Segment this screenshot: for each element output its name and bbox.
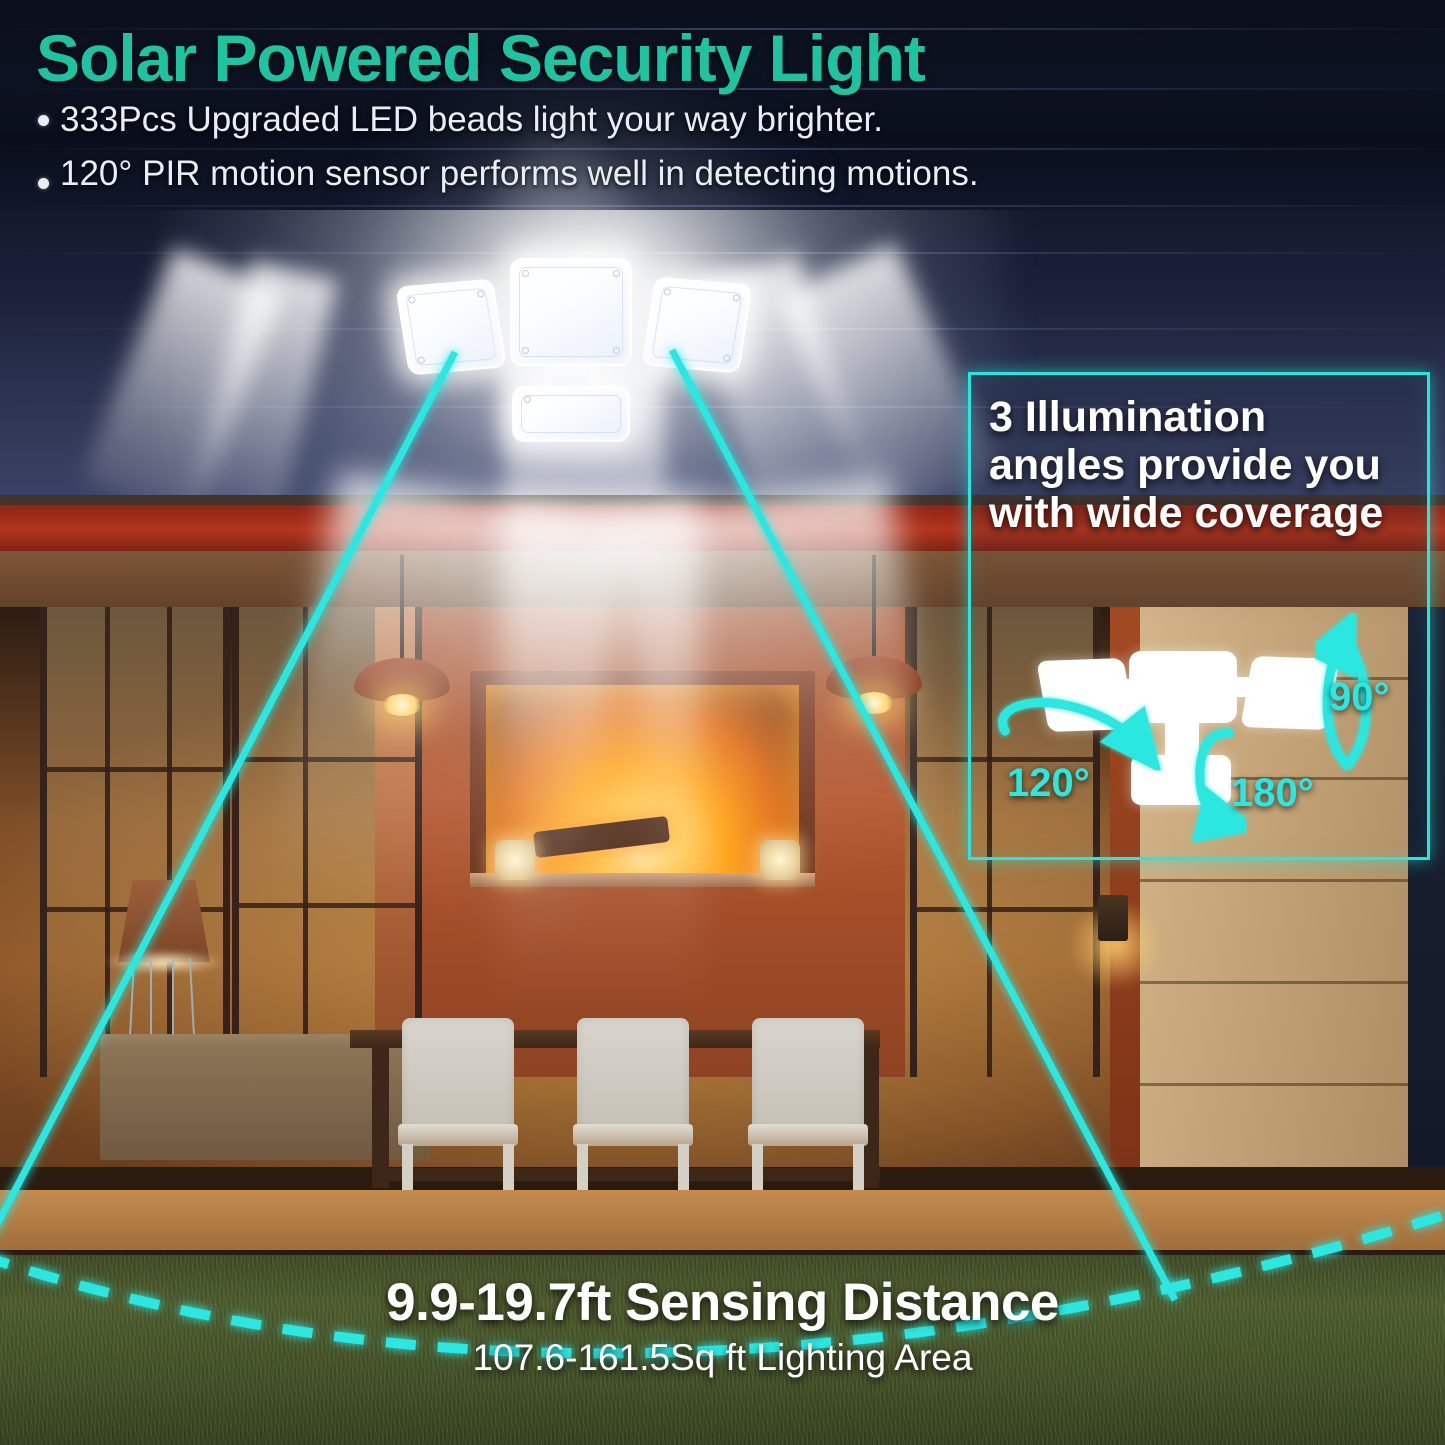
- chair: [748, 1018, 868, 1218]
- sensing-distance-label: 9.9-19.7ft Sensing Distance: [0, 1272, 1445, 1333]
- siding-seam: [0, 252, 1445, 254]
- light-ray: [191, 259, 339, 495]
- center-head: [510, 258, 632, 366]
- pendant-cord: [400, 555, 404, 665]
- table-lantern: [760, 840, 800, 880]
- screw-icon: [613, 270, 620, 277]
- lighting-area-label: 107.6-161.5Sq ft Lighting Area: [0, 1337, 1445, 1379]
- chair-seat: [748, 1124, 868, 1146]
- bullet-label: 120° PIR motion sensor performs well in …: [60, 154, 979, 194]
- screw-icon: [522, 347, 529, 354]
- mullion: [303, 607, 308, 1077]
- left-head: [395, 278, 507, 375]
- list-item: 120° PIR motion sensor performs well in …: [38, 154, 979, 194]
- header-banner: Solar Powered Security Light 333Pcs Upgr…: [0, 0, 1445, 210]
- table-leg: [372, 1048, 389, 1188]
- angle-label-180: 180°: [1231, 771, 1314, 816]
- chair-back: [402, 1018, 514, 1130]
- light-ray: [776, 243, 999, 495]
- floor-lamp-glow: [104, 950, 224, 974]
- screw-icon: [522, 270, 529, 277]
- bottom-head: [512, 386, 630, 442]
- chair-seat: [398, 1124, 518, 1146]
- chair-seat: [573, 1124, 693, 1146]
- chair-back: [577, 1018, 689, 1130]
- window-bay: [40, 607, 230, 1077]
- siding-seam: [1140, 879, 1445, 882]
- page-title: Solar Powered Security Light: [36, 20, 925, 96]
- bullet-label: 333Pcs Upgraded LED beads light your way…: [60, 100, 883, 140]
- wall-sconce: [1098, 895, 1128, 941]
- window-sill: [47, 767, 223, 772]
- right-head: [641, 276, 753, 373]
- window-sill: [239, 757, 415, 762]
- porch-deck: [0, 1190, 1445, 1250]
- window-sill: [917, 907, 1093, 912]
- table-lantern: [495, 840, 535, 880]
- arrow-180: [1200, 733, 1229, 821]
- list-item: 333Pcs Upgraded LED beads light your way…: [38, 100, 979, 140]
- siding-seam: [1140, 981, 1445, 984]
- rotation-diagram: 120° 180° 90°: [981, 613, 1421, 853]
- pendant-cord: [872, 555, 876, 663]
- screw-icon: [613, 347, 620, 354]
- light-ray: [81, 248, 286, 495]
- bullet-dot-icon: [38, 115, 49, 126]
- chair: [398, 1018, 518, 1218]
- lens-frame: [651, 286, 742, 364]
- illumination-angles-callout: 3 Illumination angles provide you with w…: [968, 372, 1430, 860]
- screw-icon: [524, 396, 531, 403]
- angle-label-120: 120°: [1007, 761, 1090, 806]
- window-sill: [239, 903, 415, 908]
- mullion: [105, 607, 110, 1077]
- siding-seam: [1140, 1083, 1445, 1086]
- fire-logs: [533, 816, 670, 858]
- callout-heading: 3 Illumination angles provide you with w…: [989, 393, 1409, 537]
- chair-back: [752, 1018, 864, 1130]
- pendant-bulb: [854, 692, 894, 714]
- chair: [573, 1018, 693, 1218]
- feature-bullet-list: 333Pcs Upgraded LED beads light your way…: [38, 100, 979, 208]
- arrow-120: [1003, 703, 1139, 745]
- rotation-arrows: [981, 613, 1421, 853]
- lens-frame: [521, 395, 621, 433]
- lens-frame: [405, 288, 496, 366]
- product-marketing-image: Solar Powered Security Light 333Pcs Upgr…: [0, 0, 1445, 1445]
- pendant-bulb: [382, 694, 422, 716]
- footer-specs: 9.9-19.7ft Sensing Distance 107.6-161.5S…: [0, 1272, 1445, 1379]
- lens-frame: [519, 267, 623, 357]
- bullet-dot-icon: [38, 178, 49, 189]
- angle-label-90: 90°: [1329, 675, 1390, 720]
